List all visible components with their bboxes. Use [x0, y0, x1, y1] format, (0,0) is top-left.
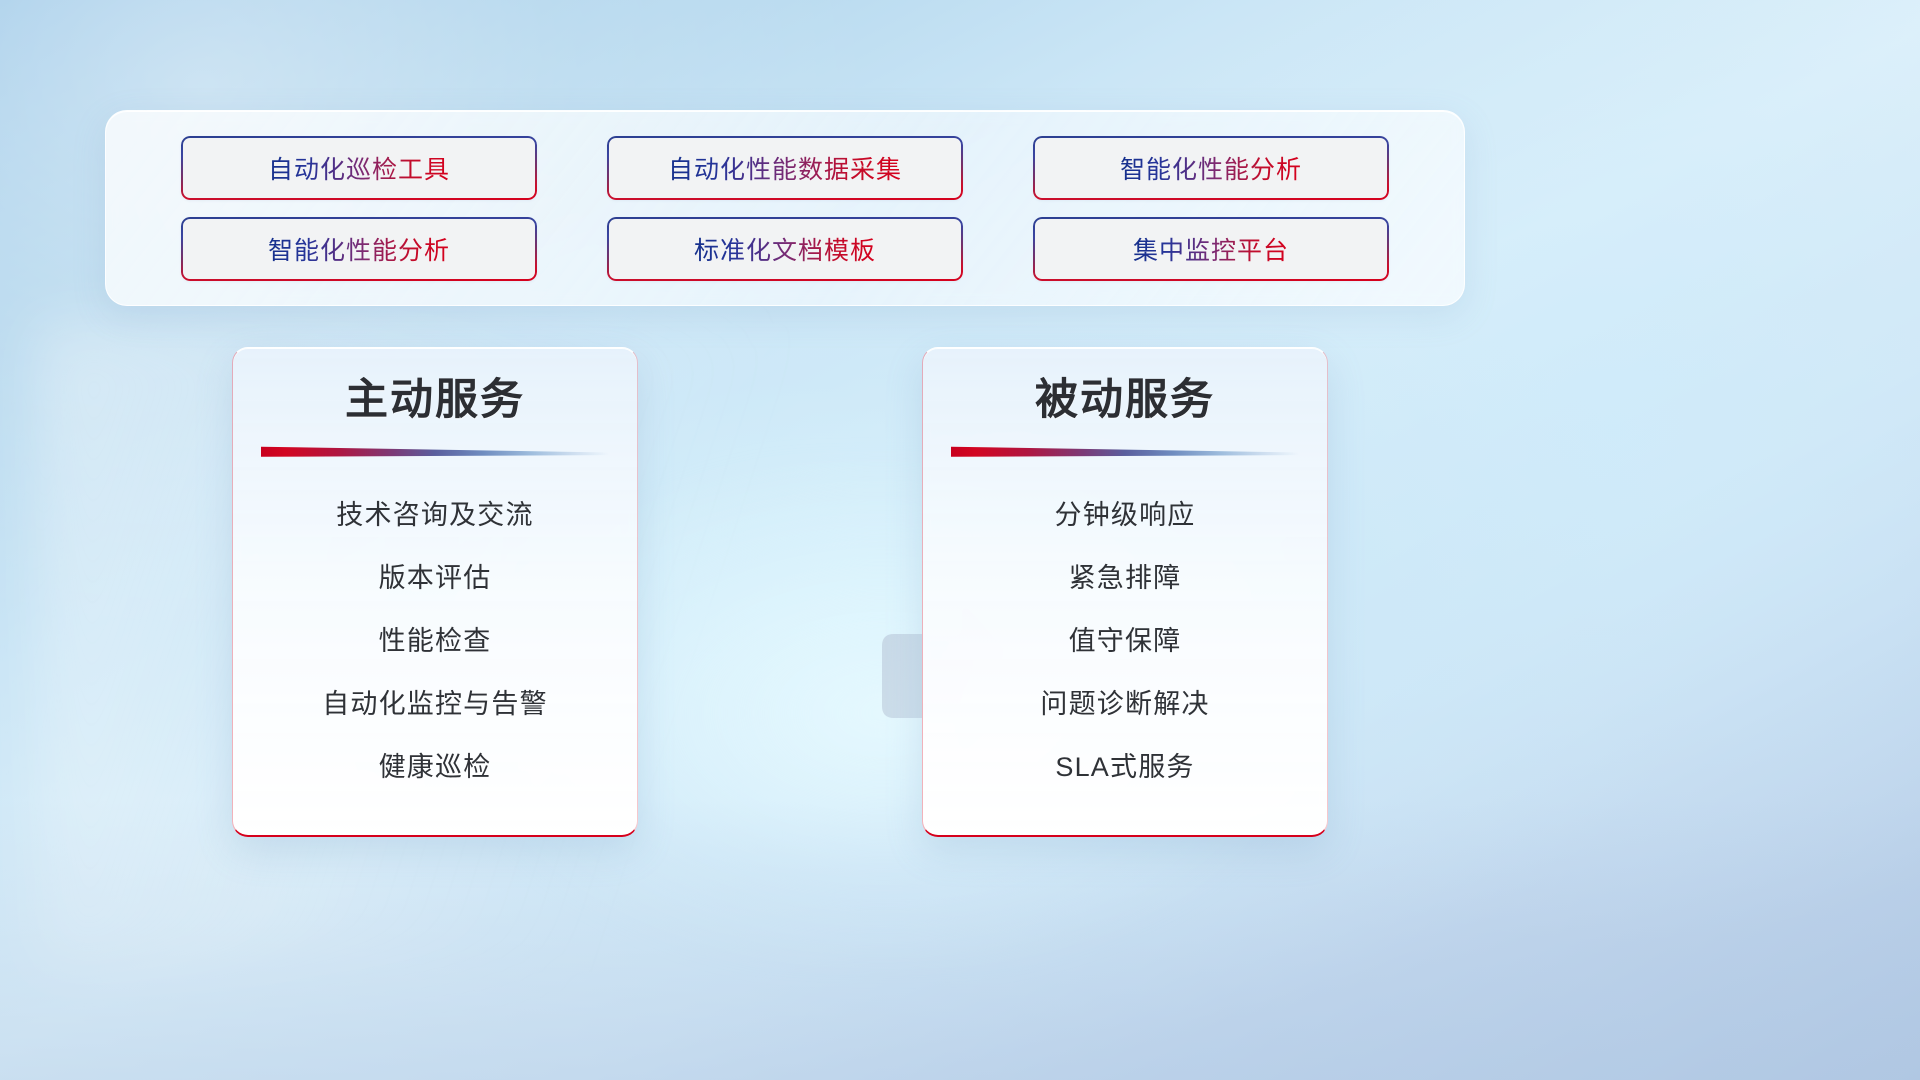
- passive-service-divider: [951, 446, 1299, 458]
- list-item: 紧急排障: [1069, 547, 1182, 610]
- capability-tag-label: 智能化性能分析: [268, 231, 450, 267]
- list-item: 值守保障: [1069, 610, 1182, 673]
- passive-service-list: 分钟级响应 紧急排障 值守保障 问题诊断解决 SLA式服务: [923, 470, 1327, 799]
- capability-tag-automated-performance-data-collection[interactable]: 自动化性能数据采集: [607, 136, 963, 200]
- list-item: 健康巡检: [379, 736, 492, 799]
- capability-tag-automated-inspection-tool[interactable]: 自动化巡检工具: [181, 136, 537, 200]
- capability-tag-label: 自动化巡检工具: [268, 150, 450, 186]
- list-item: SLA式服务: [1055, 736, 1194, 799]
- active-service-card: 主动服务 技术咨询及交流 版本评估 性能检查 自动化监控与告警 健康巡检: [232, 347, 638, 837]
- capability-tag-centralized-monitoring-platform[interactable]: 集中监控平台: [1033, 217, 1389, 281]
- passive-service-card: 被动服务 分钟级响应 紧急排障 值守保障 问题诊断解决 SLA式服务: [922, 347, 1328, 837]
- capability-tag-intelligent-performance-analysis-2[interactable]: 智能化性能分析: [181, 217, 537, 281]
- capability-tag-intelligent-performance-analysis[interactable]: 智能化性能分析: [1033, 136, 1389, 200]
- list-item: 问题诊断解决: [1040, 673, 1209, 736]
- capability-panel: 自动化巡检工具 自动化性能数据采集 智能化性能分析 智能化性能分析 标准化文档模…: [105, 110, 1465, 306]
- capability-tag-standardized-document-template[interactable]: 标准化文档模板: [607, 217, 963, 281]
- list-item: 自动化监控与告警: [322, 673, 548, 736]
- passive-service-title: 被动服务: [1035, 374, 1215, 428]
- active-service-divider: [261, 446, 609, 458]
- active-service-title: 主动服务: [345, 374, 525, 428]
- list-item: 性能检查: [379, 610, 492, 673]
- capability-tag-label: 自动化性能数据采集: [668, 150, 902, 186]
- active-service-list: 技术咨询及交流 版本评估 性能检查 自动化监控与告警 健康巡检: [233, 470, 637, 799]
- list-item: 技术咨询及交流: [336, 484, 533, 547]
- capability-tag-label: 标准化文档模板: [694, 231, 876, 267]
- list-item: 分钟级响应: [1055, 484, 1196, 547]
- capability-tag-label: 智能化性能分析: [1120, 150, 1302, 186]
- list-item: 版本评估: [379, 547, 492, 610]
- capability-tag-label: 集中监控平台: [1133, 231, 1289, 267]
